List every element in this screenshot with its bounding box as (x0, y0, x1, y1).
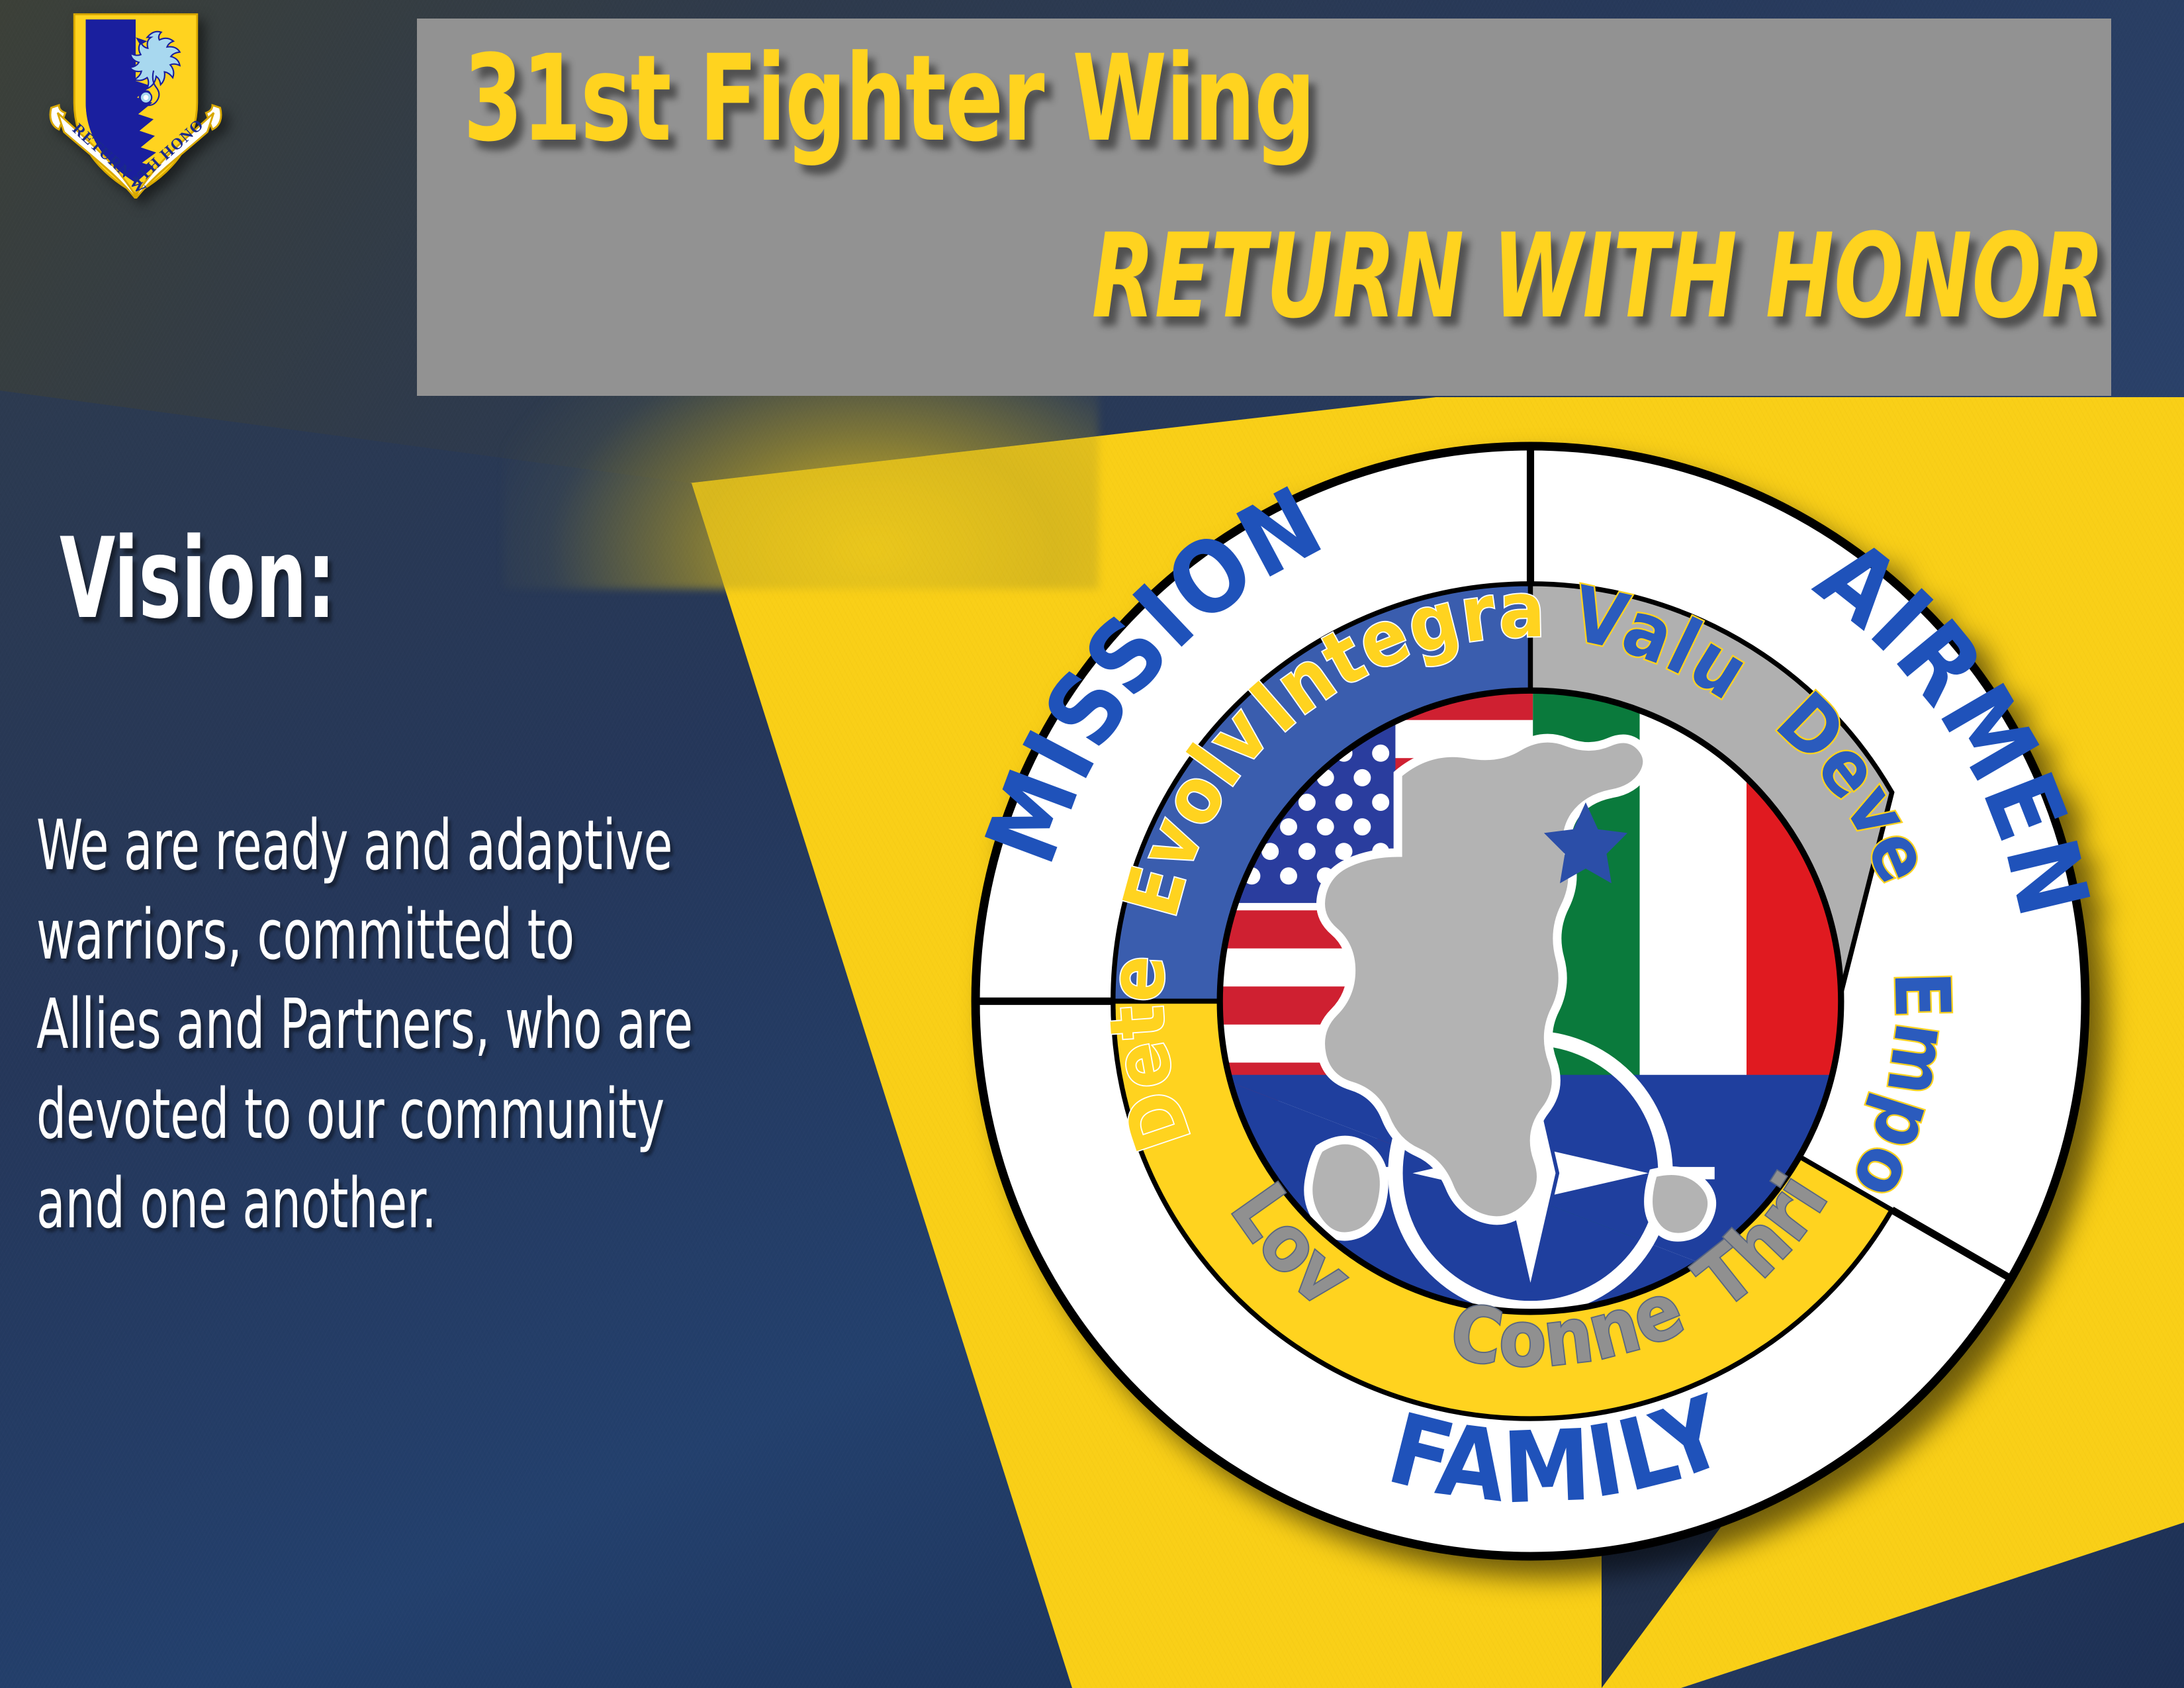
vision-heading: Vision: (60, 523, 336, 634)
poster-canvas: RETURN WITH HONOR 31st Fighter Wing RETU… (0, 0, 2184, 1688)
page-subtitle: RETURN WITH HONOR (1092, 218, 2105, 335)
vision-body-text: We are ready and adaptive warriors, comm… (36, 801, 710, 1248)
page-title: 31st Fighter Wing (463, 40, 1314, 159)
mission-airmen-family-wheel: MISSION AIRMEN FAMILY Integrate Evolve (917, 387, 2144, 1615)
wing-shield-icon: RETURN WITH HONOR (40, 7, 232, 199)
